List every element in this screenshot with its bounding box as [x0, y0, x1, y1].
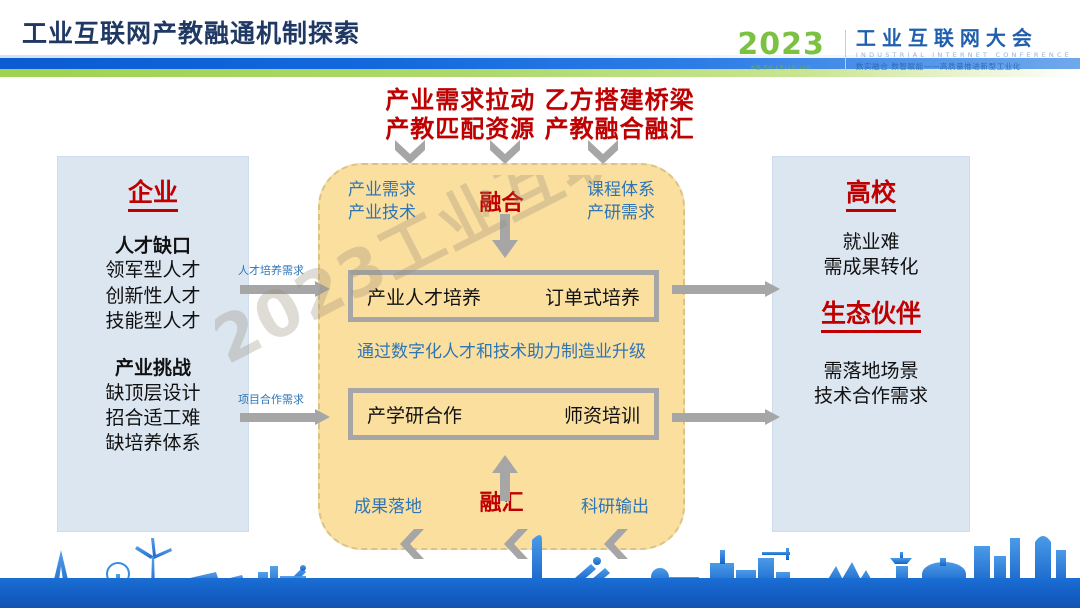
- headline: 产业需求拉动 乙方搭建桥梁 产教匹配资源 产教融合融汇: [0, 86, 1080, 145]
- university-item-2: 需成果转化: [823, 255, 918, 280]
- arrow-up-icon: [492, 455, 518, 501]
- university-partner-panel-inner: 高校 就业难 需成果转化 生态伙伴 需落地场景 技术合作需求: [773, 157, 969, 531]
- arrow-right-icon-talent: [240, 281, 330, 297]
- industry-challenge-item-2: 招合适工难: [105, 406, 200, 431]
- talent-gap-item-1: 领军型人才: [105, 258, 200, 283]
- research-cooperation-box: 产学研合作 师资培训: [348, 388, 659, 440]
- enterprise-title: 企业: [128, 179, 178, 212]
- project-cooperation-label: 项目合作需求: [238, 391, 304, 407]
- logo-divider: [845, 30, 846, 70]
- arrow-right-icon-project: [240, 409, 330, 425]
- conference-logo: 2023 中国·苏州 8月14日-16日 工业互联网大会 INDUSTRIAL …: [737, 26, 1072, 74]
- arrow-right-icon-to-partner: [672, 409, 780, 425]
- eco-partner-item-1: 需落地场景: [823, 359, 918, 384]
- talent-training-left: 产业人才培养: [367, 283, 481, 310]
- talent-training-box: 产业人才培养 订单式培养: [348, 270, 659, 322]
- eco-partner-title: 生态伙伴: [821, 300, 921, 333]
- enterprise-panel-inner: 企业 人才缺口 领军型人才 创新性人才 技能型人才 产业挑战 缺顶层设计 招合适…: [58, 157, 248, 531]
- fusion-label: 融合: [320, 185, 683, 217]
- industry-challenge-item-3: 缺培养体系: [105, 431, 200, 456]
- page-title: 工业互联网产教融通机制探索: [22, 14, 360, 50]
- talent-demand-label: 人才培养需求: [238, 262, 304, 278]
- headline-line-1: 产业需求拉动 乙方搭建桥梁: [0, 86, 1080, 115]
- arrow-down-icon: [492, 214, 518, 258]
- industry-challenge-item-1: 缺顶层设计: [105, 381, 200, 406]
- logo-year: 2023: [737, 30, 825, 60]
- talent-gap-title: 人才缺口: [115, 234, 191, 259]
- enterprise-panel: 企业 人才缺口 领军型人才 创新性人才 技能型人才 产业挑战 缺顶层设计 招合适…: [57, 156, 249, 532]
- slide: 工业互联网产教融通机制探索 2023 中国·苏州 8月14日-16日 工业互联网…: [0, 0, 1080, 608]
- research-cooperation-left: 产学研合作: [367, 401, 462, 428]
- logo-year-block: 2023 中国·苏州 8月14日-16日: [737, 30, 835, 71]
- talent-gap-item-3: 技能型人才: [105, 309, 200, 334]
- center-middle-text: 通过数字化人才和技术助力制造业升级: [320, 337, 683, 362]
- logo-name-block: 工业互联网大会 INDUSTRIAL INTERNET CONFERENCE 数…: [856, 28, 1072, 72]
- eco-partner-item-2: 技术合作需求: [814, 384, 928, 409]
- talent-gap-item-2: 创新性人才: [105, 284, 200, 309]
- logo-tagline: 数实融合 数智赋能——高质量推进新型工业化: [856, 61, 1072, 72]
- university-partner-panel: 高校 就业难 需成果转化 生态伙伴 需落地场景 技术合作需求: [772, 156, 970, 532]
- logo-name-en: INDUSTRIAL INTERNET CONFERENCE: [856, 51, 1072, 59]
- research-cooperation-right: 师资培训: [564, 401, 640, 428]
- industry-challenge-title: 产业挑战: [115, 356, 191, 381]
- university-item-1: 就业难: [842, 230, 899, 255]
- university-title: 高校: [846, 179, 896, 212]
- logo-name-cn: 工业互联网大会: [856, 28, 1072, 49]
- arrow-right-icon-to-university: [672, 281, 780, 297]
- logo-year-subtitle: 中国·苏州 8月14日-16日: [751, 64, 811, 71]
- headline-line-2: 产教匹配资源 产教融合融汇: [0, 115, 1080, 144]
- talent-training-right: 订单式培养: [545, 283, 640, 310]
- sea-band: [0, 578, 1080, 608]
